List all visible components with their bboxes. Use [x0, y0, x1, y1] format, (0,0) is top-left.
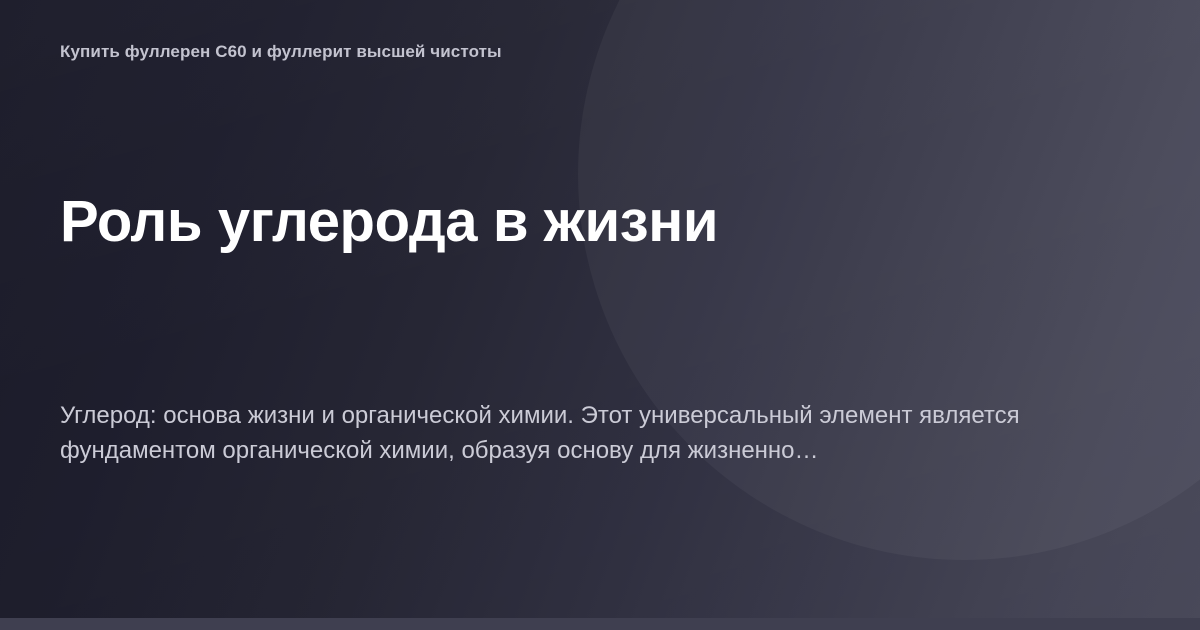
page-title: Роль углерода в жизни — [60, 190, 718, 255]
page-excerpt: Углерод: основа жизни и органической хим… — [60, 398, 1100, 468]
site-title: Купить фуллерен C60 и фуллерит высшей чи… — [60, 41, 502, 62]
og-preview-card: Купить фуллерен C60 и фуллерит высшей чи… — [0, 0, 1200, 630]
card-content: Купить фуллерен C60 и фуллерит высшей чи… — [0, 0, 1200, 630]
